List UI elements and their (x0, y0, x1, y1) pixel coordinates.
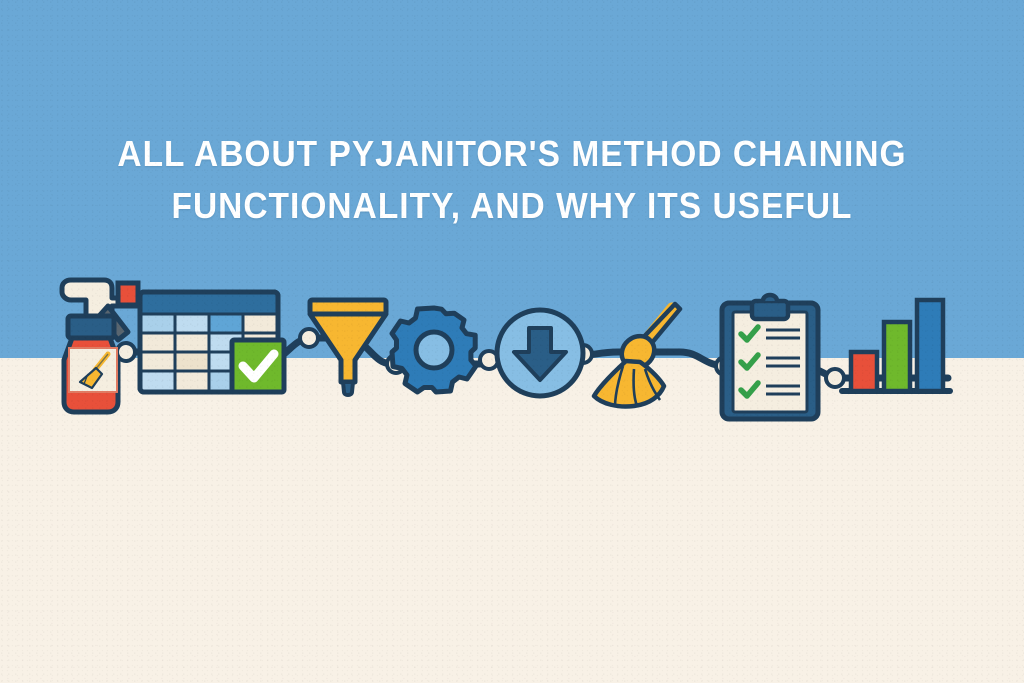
gear-icon (392, 308, 476, 392)
download-circle-icon (497, 310, 583, 396)
bar-3 (917, 300, 943, 391)
check-square-icon (232, 340, 284, 392)
bar-chart-icon (842, 300, 950, 391)
illustration-stage (0, 0, 1024, 683)
title-line-2: FUNCTIONALITY, AND WHY ITS USEFUL (36, 180, 988, 232)
banner-title: ALL ABOUT PYJANITOR'S METHOD CHAINING FU… (0, 128, 1024, 232)
infographic-banner: ALL ABOUT PYJANITOR'S METHOD CHAINING FU… (0, 0, 1024, 683)
bar-1 (851, 352, 877, 391)
title-line-1: ALL ABOUT PYJANITOR'S METHOD CHAINING (36, 128, 988, 180)
funnel-icon (310, 300, 386, 395)
clipboard-checklist-icon (722, 295, 818, 419)
bar-2 (884, 322, 910, 391)
